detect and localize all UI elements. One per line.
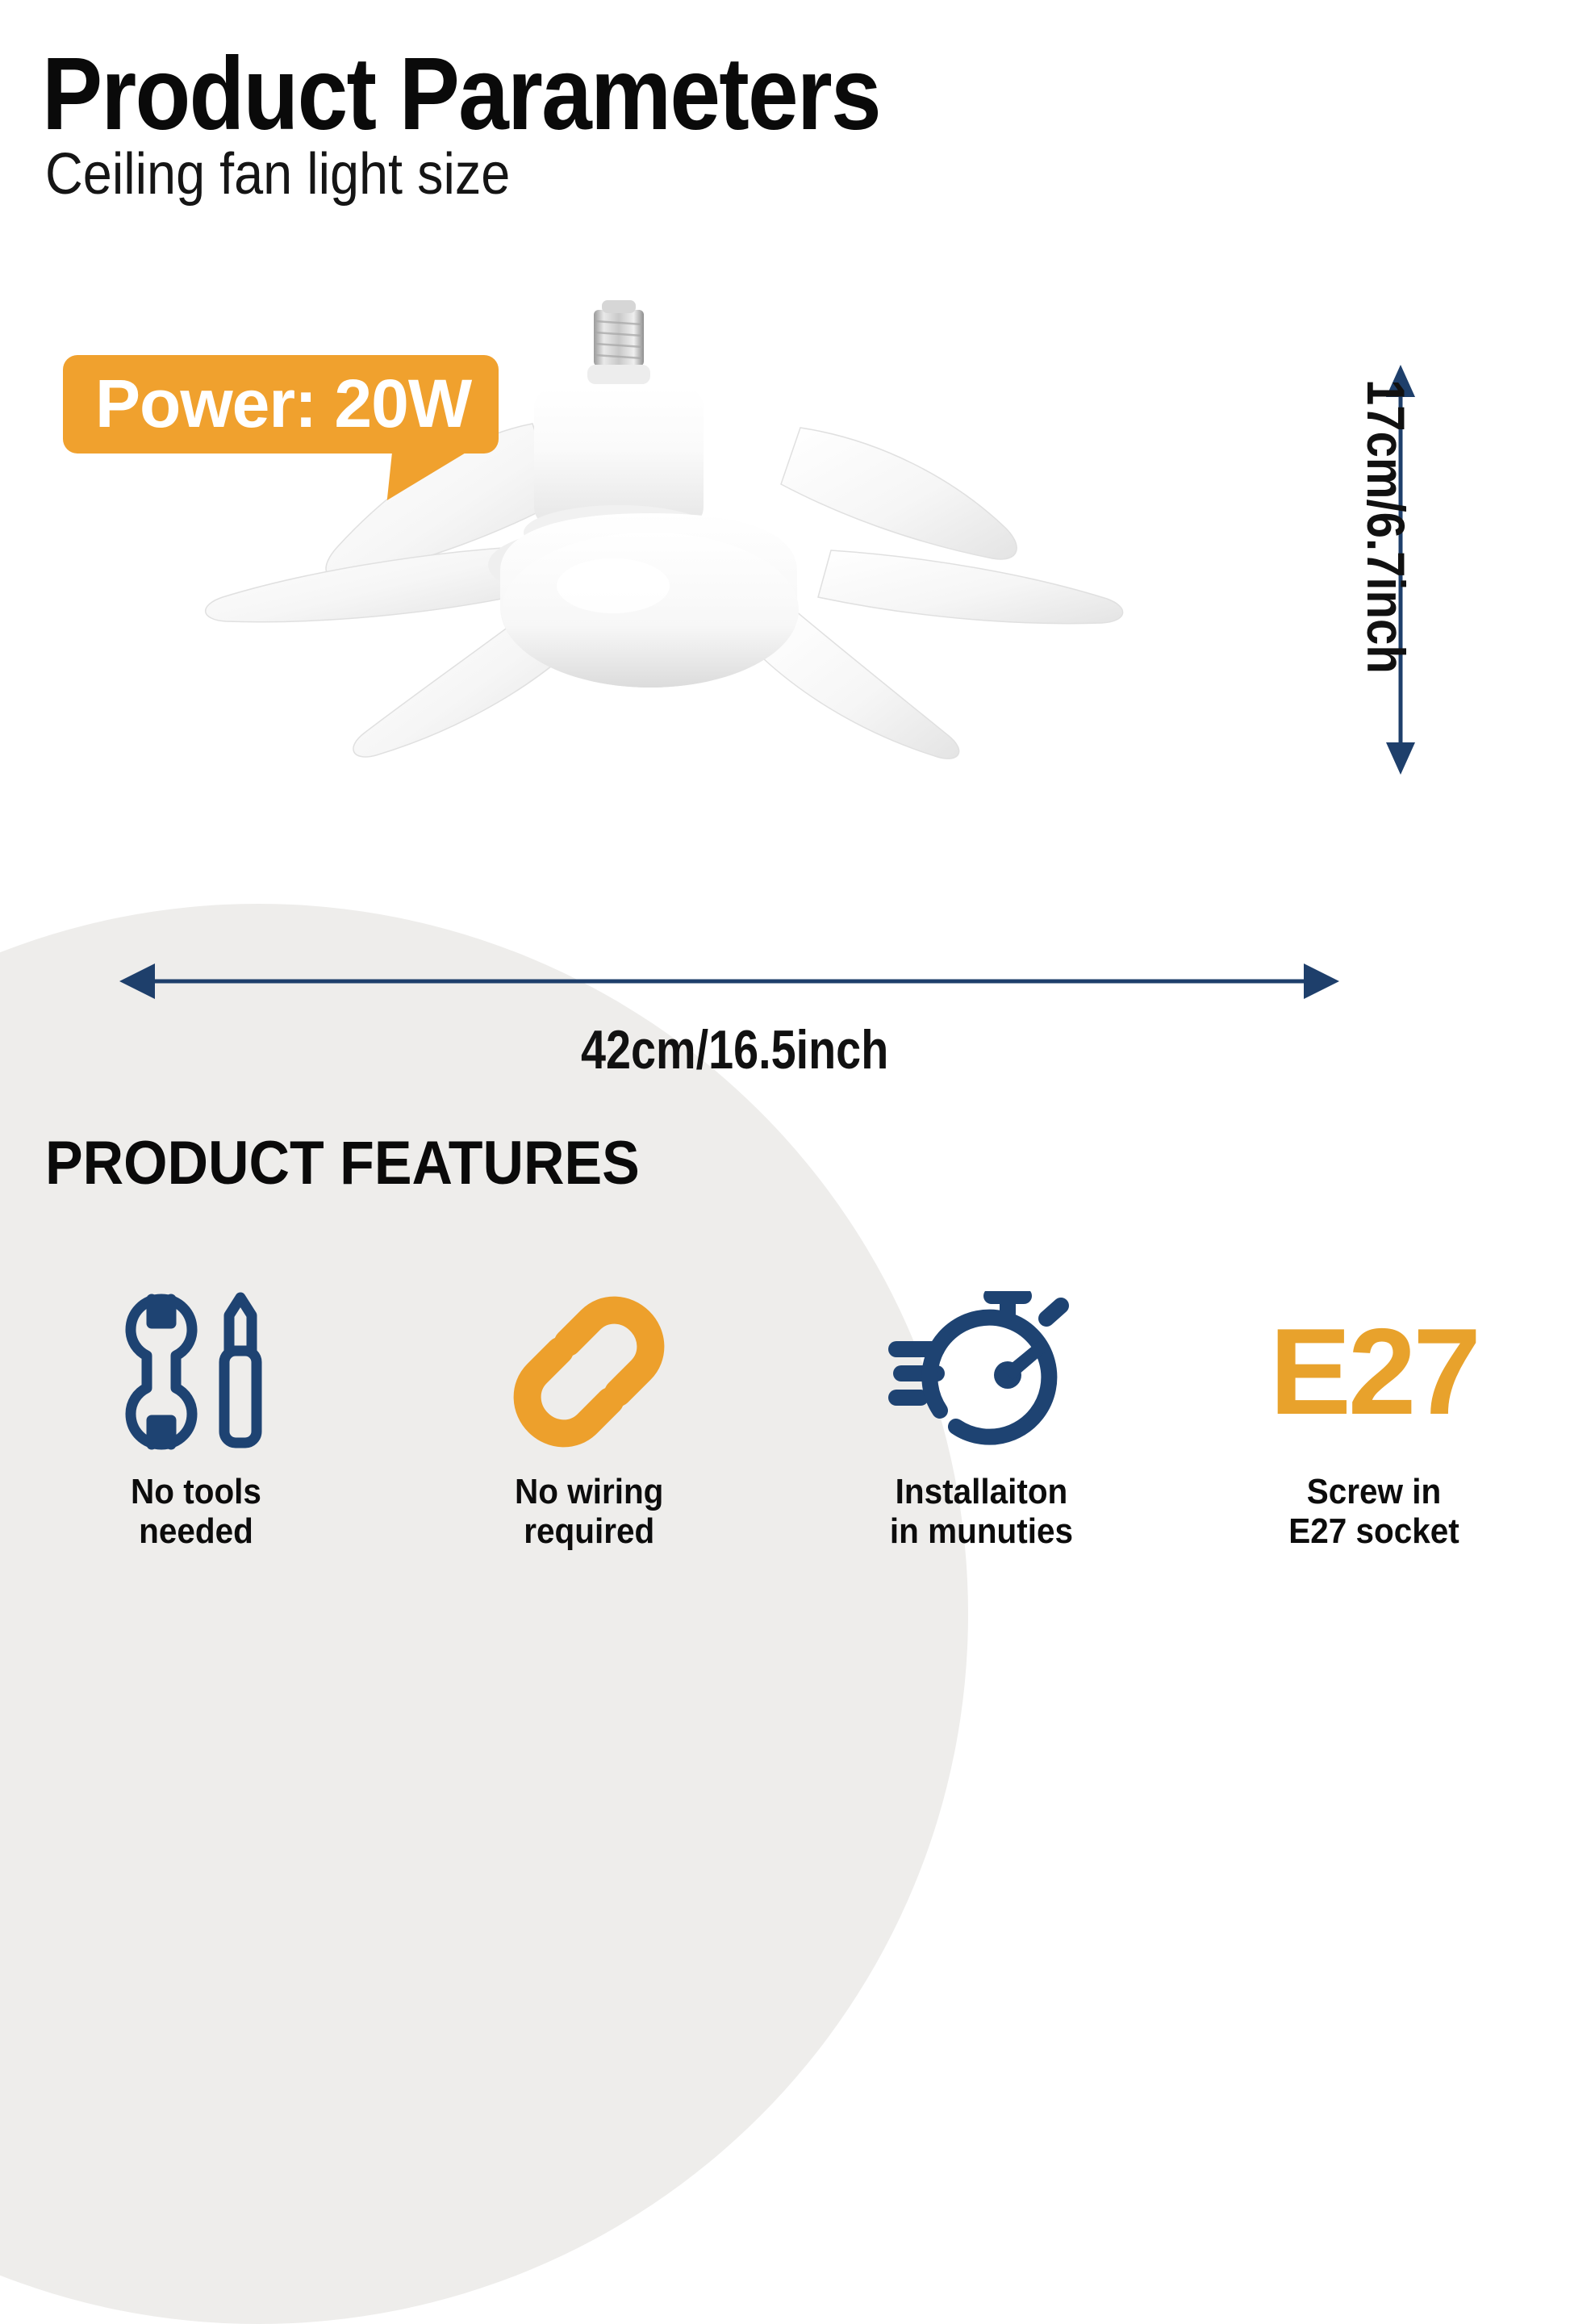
arrow-head-right [1304,963,1339,999]
power-badge-label: Power: 20W [95,366,471,441]
feature-label: Screw in E27 socket [1288,1472,1459,1552]
arrow-head-down [1386,742,1415,775]
arrow-head-left [119,963,155,999]
power-badge-pointer [387,450,470,500]
stopwatch-button [1046,1306,1061,1319]
width-dimension-arrow [119,957,1339,1005]
chain-link-icon [504,1283,674,1461]
width-dimension-label: 42cm/16.5inch [581,1018,888,1081]
page-title: Product Parameters [42,39,880,150]
stopwatch-speed-icon [888,1283,1074,1461]
background-circle-decoration [0,904,968,2324]
e27-glyph: E27 [1270,1310,1478,1433]
features-heading: PRODUCT FEATURES [45,1128,640,1198]
page-subtitle: Ceiling fan light size [45,141,510,207]
features-row: No tools needed No wiring required [0,1283,1570,1552]
power-badge: Power: 20W [63,355,499,454]
feature-label: No wiring required [515,1472,663,1552]
stopwatch-dial [930,1318,1050,1437]
feature-label: No tools needed [131,1472,261,1552]
feature-item-no-tools: No tools needed [0,1283,393,1552]
feature-label: Installaiton in munuties [890,1472,1073,1552]
feature-item-no-wiring: No wiring required [393,1283,786,1552]
fan-body [488,300,799,688]
height-dimension-label: 17cm/6.7inch [1355,379,1417,720]
feature-item-installation-time: Installaiton in munuties [785,1283,1178,1552]
power-badge-container: Power: 20W [63,355,499,454]
feature-item-e27-socket: E27 Screw in E27 socket [1178,1283,1570,1552]
e27-text-icon: E27 [1270,1283,1478,1461]
wrench-screwdriver-icon [111,1283,281,1461]
